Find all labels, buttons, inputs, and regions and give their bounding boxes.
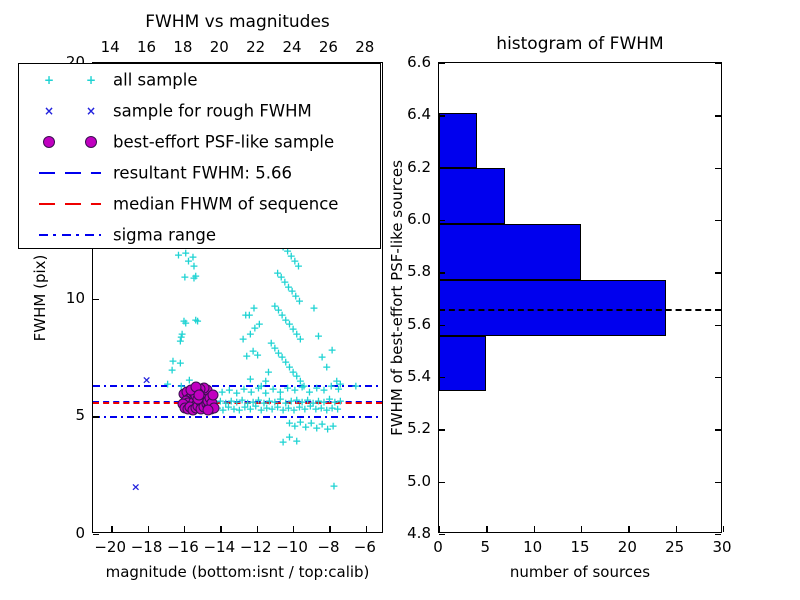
hist-xtick (486, 526, 487, 532)
scatter-point-all-sample: + (285, 319, 294, 330)
left-top-xtick-label: 16 (137, 38, 156, 56)
scatter-point-all-sample: + (262, 403, 271, 414)
left-xtick-label: −10 (276, 538, 308, 556)
scatter-point-psf-like (179, 403, 190, 414)
scatter-point-all-sample: + (296, 333, 305, 344)
hist-ytick (439, 534, 445, 535)
hist-xtick-label: 0 (433, 538, 443, 556)
scatter-point-all-sample: + (176, 335, 185, 346)
scatter-point-all-sample: + (276, 386, 285, 397)
scatter-point-all-sample: + (294, 260, 303, 271)
left-plot-ylabel: FWHM (pix) (31, 254, 49, 341)
scatter-point-all-sample: + (329, 480, 338, 491)
scatter-point-all-sample: + (278, 352, 287, 363)
scatter-point-all-sample: + (181, 318, 190, 329)
hist-ytick-label: 6.4 (407, 105, 431, 123)
dashdot-line-icon (39, 234, 101, 236)
histogram-bar (439, 113, 477, 168)
scatter-point-all-sample: + (218, 404, 227, 415)
scatter-point-all-sample: + (300, 404, 309, 415)
left-xtick (257, 526, 258, 532)
scatter-point-all-sample: + (283, 382, 292, 393)
scatter-point-all-sample: + (328, 420, 337, 431)
hist-ytick (439, 377, 445, 378)
scatter-point-all-sample: + (281, 314, 290, 325)
scatter-point-all-sample: + (264, 366, 273, 377)
scatter-point-all-sample: + (213, 403, 222, 414)
plus-icon: + (44, 74, 54, 86)
scatter-point-all-sample: + (290, 255, 299, 266)
hist-ytick-right (715, 534, 721, 535)
scatter-point-all-sample: + (241, 309, 250, 320)
left-xtick (366, 526, 367, 532)
scatter-point-all-sample: + (245, 309, 254, 320)
cross-icon: × (44, 105, 54, 117)
left-xtick (148, 526, 149, 532)
hist-ytick-label: 5.8 (407, 262, 431, 280)
scatter-point-all-sample: + (307, 418, 316, 429)
scatter-point-psf-like (202, 405, 213, 416)
scatter-point-all-sample: + (292, 371, 301, 382)
histogram-bar (439, 336, 486, 391)
scatter-point-psf-like (192, 387, 203, 398)
scatter-point-all-sample: + (238, 333, 247, 344)
scatter-point-all-sample: + (278, 405, 287, 416)
scatter-point-all-sample: + (288, 286, 297, 297)
left-ytick (93, 416, 99, 417)
scatter-point-all-sample: + (250, 322, 259, 333)
left-xtick (111, 526, 112, 532)
scatter-point-rough-fwhm: × (131, 481, 140, 492)
histogram-plot-area (439, 63, 721, 532)
scatter-point-all-sample: + (284, 281, 293, 292)
hist-xtick (628, 526, 629, 532)
hist-ytick-right (715, 482, 721, 483)
scatter-point-rough-fwhm: × (142, 374, 151, 385)
hist-ytick (439, 429, 445, 430)
left-xtick (293, 526, 294, 532)
hist-ytick (439, 63, 445, 64)
scatter-point-all-sample: + (254, 382, 263, 393)
dashed-line-icon (39, 172, 101, 174)
scatter-point-all-sample: + (311, 404, 320, 415)
hist-ytick-label: 5.0 (407, 472, 431, 490)
scatter-point-all-sample: + (235, 405, 244, 416)
scatter-point-all-sample: + (312, 382, 321, 393)
scatter-point-all-sample: + (274, 305, 283, 316)
scatter-point-all-sample: + (270, 300, 279, 311)
scatter-point-all-sample: + (295, 295, 304, 306)
scatter-point-psf-like (190, 403, 201, 414)
scatter-point-all-sample: + (208, 404, 217, 415)
scatter-point-all-sample: + (184, 255, 193, 266)
hist-ytick-right (715, 325, 721, 326)
scatter-point-all-sample: + (168, 355, 177, 366)
scatter-point-all-sample: + (246, 404, 255, 415)
hist-ytick-label: 5.4 (407, 367, 431, 385)
scatter-point-all-sample: + (309, 302, 318, 313)
histogram-median-line (439, 309, 721, 311)
right-plot-title: histogram of FWHM (496, 34, 663, 54)
scatter-point-all-sample: + (168, 365, 177, 376)
left-xtick-label: −18 (131, 538, 163, 556)
scatter-point-all-sample: + (242, 351, 251, 362)
scatter-point-all-sample: + (280, 277, 289, 288)
scatter-point-all-sample: + (292, 435, 301, 446)
scatter-point-all-sample: + (218, 386, 227, 397)
scatter-point-all-sample: + (312, 423, 321, 434)
circle-icon (43, 136, 55, 148)
cross-icon: × (86, 105, 96, 117)
left-ytick-label: 10 (66, 289, 85, 307)
scatter-point-all-sample: + (318, 352, 327, 363)
left-xtick (220, 526, 221, 532)
scatter-point-all-sample: + (191, 271, 200, 282)
left-xtick-label: −20 (94, 538, 126, 556)
hist-xtick (723, 526, 724, 532)
hist-xtick-label: 25 (665, 538, 684, 556)
scatter-point-all-sample: + (191, 314, 200, 325)
hist-ytick (439, 482, 445, 483)
scatter-point-psf-like (208, 403, 219, 414)
legend-row: ××sample for rough FWHM (19, 95, 380, 126)
reference-line-sigma-range-upper (93, 385, 382, 387)
scatter-point-all-sample: + (287, 251, 296, 262)
reference-line-median-fhwm-of-sequence (93, 402, 382, 404)
hist-ytick-label: 6.0 (407, 210, 431, 228)
hist-ytick (439, 325, 445, 326)
legend-row: resultant FWHM: 5.66 (19, 157, 380, 188)
hist-ytick (439, 220, 445, 221)
right-plot-xlabel: number of sources (510, 563, 650, 581)
hist-ytick-right (715, 63, 721, 64)
scatter-point-all-sample: + (301, 421, 310, 432)
hist-ytick-right (715, 115, 721, 116)
scatter-point-all-sample: + (248, 346, 257, 357)
scatter-point-all-sample: + (285, 418, 294, 429)
hist-ytick-label: 6.6 (407, 53, 431, 71)
legend-label: resultant FWHM: 5.66 (113, 163, 292, 182)
scatter-point-all-sample: + (179, 315, 188, 326)
right-plot-ylabel: FWHM of best-effort PSF-like sources (388, 160, 406, 436)
scatter-point-all-sample: + (174, 249, 183, 260)
scatter-point-all-sample: + (318, 419, 327, 430)
hist-ytick-label: 6.2 (407, 158, 431, 176)
left-plot-xlabel: magnitude (bottom:isnt / top:calib) (106, 563, 370, 581)
scatter-point-all-sample: + (255, 319, 264, 330)
hist-ytick (439, 115, 445, 116)
histogram-bar (439, 224, 581, 280)
scatter-point-all-sample: + (189, 260, 198, 271)
scatter-point-psf-like (178, 388, 189, 399)
hist-ytick-right (715, 220, 721, 221)
scatter-point-all-sample: + (284, 403, 293, 414)
scatter-point-all-sample: + (322, 404, 331, 415)
hist-xtick (439, 526, 440, 532)
hist-xtick-label: 30 (712, 538, 731, 556)
scatter-point-all-sample: + (247, 386, 256, 397)
scatter-point-all-sample: + (305, 386, 314, 397)
left-top-xtick-label: 22 (246, 38, 265, 56)
hist-xtick (581, 526, 582, 532)
legend-label: sigma range (113, 225, 216, 244)
left-xtick-label: −12 (240, 538, 272, 556)
scatter-point-all-sample: + (274, 347, 283, 358)
reference-line-sigma-range-lower (93, 416, 382, 418)
left-top-xtick-label: 18 (173, 38, 192, 56)
scatter-point-psf-like (196, 404, 207, 415)
plus-icon: + (86, 74, 96, 86)
scatter-point-all-sample: + (317, 402, 326, 413)
scatter-point-all-sample: + (257, 404, 266, 415)
legend-row: ++all sample (19, 64, 380, 95)
circle-icon (85, 136, 97, 148)
scatter-point-all-sample: + (289, 404, 298, 415)
scatter-point-all-sample: + (314, 331, 323, 342)
scatter-point-psf-like (199, 390, 210, 401)
scatter-point-all-sample: + (291, 291, 300, 302)
scatter-point-all-sample: + (246, 328, 255, 339)
scatter-point-psf-like (181, 386, 192, 397)
scatter-point-all-sample: + (285, 361, 294, 372)
dashed-line-icon (39, 203, 101, 205)
scatter-point-all-sample: + (178, 328, 187, 339)
legend-label: best-effort PSF-like sample (113, 132, 334, 151)
scatter-point-all-sample: + (288, 324, 297, 335)
scatter-point-all-sample: + (180, 272, 189, 283)
legend-row: best-effort PSF-like sample (19, 126, 380, 157)
scatter-point-all-sample: + (281, 357, 290, 368)
histogram-bar (439, 168, 505, 224)
scatter-point-all-sample: + (261, 387, 270, 398)
figure-canvas: FWHM vs magnitudes magnitude (bottom:isn… (0, 0, 800, 600)
hist-xtick (534, 526, 535, 532)
hist-ytick-label: 5.2 (407, 419, 431, 437)
hist-ytick-right (715, 377, 721, 378)
left-top-xtick-label: 14 (101, 38, 120, 56)
left-ytick (93, 534, 99, 535)
legend-row: sigma range (19, 219, 380, 250)
scatter-point-all-sample: + (292, 328, 301, 339)
left-xtick-label: −16 (167, 538, 199, 556)
scatter-point-all-sample: + (322, 361, 331, 372)
scatter-point-all-sample: + (246, 373, 255, 384)
scatter-point-all-sample: + (232, 387, 241, 398)
scatter-point-all-sample: + (188, 252, 197, 263)
scatter-point-psf-like (188, 387, 199, 398)
left-top-xtick-label: 20 (210, 38, 229, 56)
legend-label: median FHWM of sequence (113, 194, 338, 213)
hist-xtick-label: 10 (523, 538, 542, 556)
hist-xtick-label: 5 (481, 538, 491, 556)
scatter-point-all-sample: + (277, 272, 286, 283)
scatter-point-all-sample: + (267, 338, 276, 349)
hist-ytick (439, 272, 445, 273)
hist-xtick (676, 526, 677, 532)
left-xtick-label: −8 (317, 538, 339, 556)
scatter-point-all-sample: + (278, 437, 287, 448)
scatter-point-psf-like (198, 382, 209, 393)
scatter-point-all-sample: + (270, 342, 279, 353)
hist-ytick-label: 4.8 (407, 524, 431, 542)
scatter-point-all-sample: + (176, 358, 185, 369)
left-plot-title: FWHM vs magnitudes (145, 12, 330, 32)
hist-xtick-label: 20 (618, 538, 637, 556)
hist-ytick (439, 168, 445, 169)
hist-ytick-right (715, 272, 721, 273)
legend-label: all sample (113, 70, 198, 89)
scatter-point-all-sample: + (193, 315, 202, 326)
hist-ytick-right (715, 168, 721, 169)
left-top-xtick-label: 26 (319, 38, 338, 56)
scatter-point-all-sample: + (333, 404, 342, 415)
left-xtick-label: −14 (203, 538, 235, 556)
legend-label: sample for rough FWHM (113, 101, 312, 120)
scatter-point-all-sample: + (278, 309, 287, 320)
scatter-point-psf-like (206, 404, 217, 415)
left-ytick-label: 5 (75, 406, 85, 424)
scatter-point-all-sample: + (328, 403, 337, 414)
left-xtick (184, 526, 185, 532)
hist-ytick-right (715, 429, 721, 430)
scatter-point-all-sample: + (268, 404, 277, 415)
scatter-point-all-sample: + (285, 432, 294, 443)
scatter-point-all-sample: + (189, 273, 198, 284)
scatter-point-all-sample: + (323, 424, 332, 435)
scatter-point-all-sample: + (229, 403, 238, 414)
scatter-point-all-sample: + (290, 420, 299, 431)
scatter-point-psf-like (188, 404, 199, 415)
scatter-point-psf-like (182, 404, 193, 415)
scatter-point-all-sample: + (177, 332, 186, 343)
left-ytick-label: 0 (75, 524, 85, 542)
scatter-point-all-sample: + (273, 267, 282, 278)
left-top-xtick-label: 24 (283, 38, 302, 56)
hist-ytick-label: 5.6 (407, 315, 431, 333)
scatter-point-all-sample: + (253, 350, 262, 361)
left-xtick-label: −6 (354, 538, 376, 556)
scatter-point-all-sample: + (288, 366, 297, 377)
scatter-point-psf-like (194, 390, 205, 401)
scatter-point-all-sample: + (249, 302, 258, 313)
left-xtick (329, 526, 330, 532)
legend-box: ++all sample××sample for rough FWHMbest-… (18, 63, 381, 249)
scatter-point-all-sample: + (328, 345, 337, 356)
histogram-panel (438, 62, 722, 533)
left-top-xtick-label: 28 (355, 38, 374, 56)
scatter-point-all-sample: + (185, 374, 194, 385)
legend-row: median FHWM of sequence (19, 188, 380, 219)
scatter-point-psf-like (208, 390, 219, 401)
left-ytick (93, 299, 99, 300)
hist-xtick-label: 15 (570, 538, 589, 556)
